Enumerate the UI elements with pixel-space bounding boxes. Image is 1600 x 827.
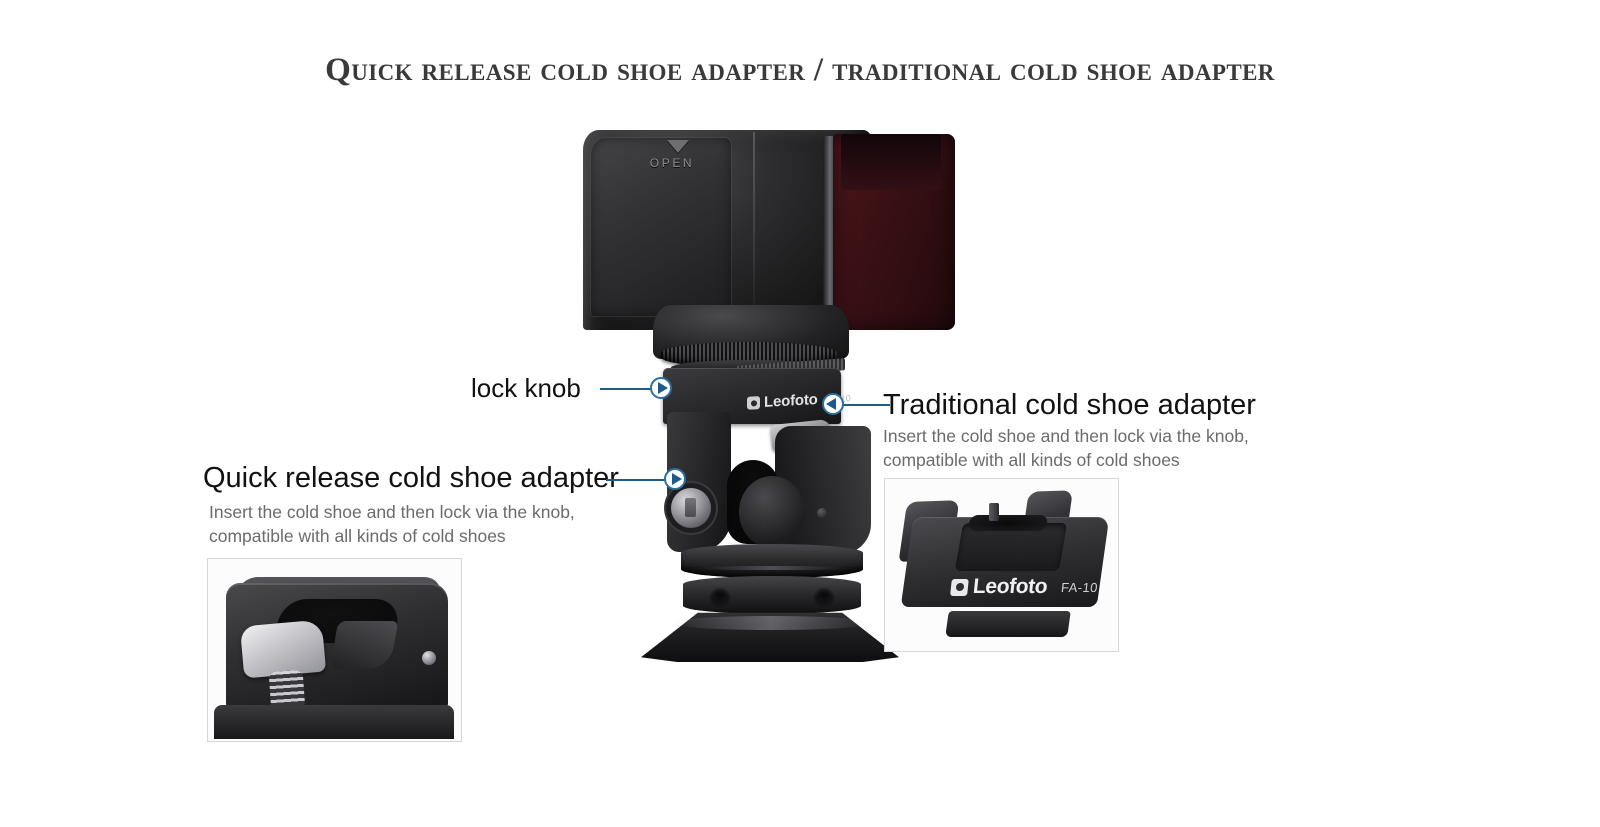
mount-collar-hole xyxy=(709,588,731,608)
callout-quick-release-description: Insert the cold shoe and then lock via t… xyxy=(209,500,629,548)
arrow-right-circle-icon xyxy=(650,377,672,399)
yoke-side-screw-icon xyxy=(817,508,827,518)
qr-clamp-screw-icon xyxy=(422,651,436,665)
callout-traditional-description: Insert the cold shoe and then lock via t… xyxy=(883,424,1303,472)
mount-collar-seam xyxy=(683,566,861,570)
inset-quick-release-photo xyxy=(207,558,462,742)
callout-quick-release-title: Quick release cold shoe adapter xyxy=(203,463,619,493)
inset-traditional-photo: Leofoto FA-10 xyxy=(884,478,1119,652)
arrow-right-circle-icon xyxy=(664,468,686,490)
mount-base-highlight xyxy=(671,616,871,630)
flash-panel-gloss xyxy=(841,134,941,190)
callout-traditional-leader-line xyxy=(842,404,890,406)
cold-shoe-foot xyxy=(945,611,1071,637)
mount-collar-hole xyxy=(813,588,835,608)
callout-quick-release-leader-line xyxy=(606,479,668,481)
flash-af-assist-panel xyxy=(833,134,955,330)
inset-brand-mark: Leofoto FA-10 xyxy=(950,575,1099,599)
arrow-right-glyph xyxy=(658,382,668,394)
tilt-pivot-screw-icon xyxy=(671,488,711,528)
flash-open-label: OPEN xyxy=(627,156,717,170)
arrow-left-glyph xyxy=(826,398,836,410)
cold-shoe-slot xyxy=(968,515,1049,531)
callout-lock-knob-label: lock knob xyxy=(471,373,581,404)
page-title: Quick release cold shoe adapter / Tradit… xyxy=(0,52,1600,89)
leofoto-logo-icon xyxy=(747,396,760,410)
triangle-down-icon xyxy=(667,140,689,153)
callout-traditional-title: Traditional cold shoe adapter xyxy=(883,390,1256,420)
cold-shoe-contact-pin xyxy=(989,503,999,521)
callout-lock-knob-leader-line xyxy=(600,388,654,390)
arrow-right-glyph xyxy=(672,473,682,485)
arrow-left-circle-icon xyxy=(822,393,844,415)
mount-collar-upper xyxy=(681,544,863,578)
tilt-yoke-hub xyxy=(739,476,805,548)
leofoto-logo-icon xyxy=(950,579,969,596)
qr-clamp-foot xyxy=(214,705,454,739)
qr-clamp-release-lever xyxy=(240,620,326,679)
hero-brand-name: Leofoto xyxy=(764,391,818,411)
inset-model-number: FA-10 xyxy=(1060,580,1098,595)
inset-brand-name: Leofoto xyxy=(972,575,1049,599)
